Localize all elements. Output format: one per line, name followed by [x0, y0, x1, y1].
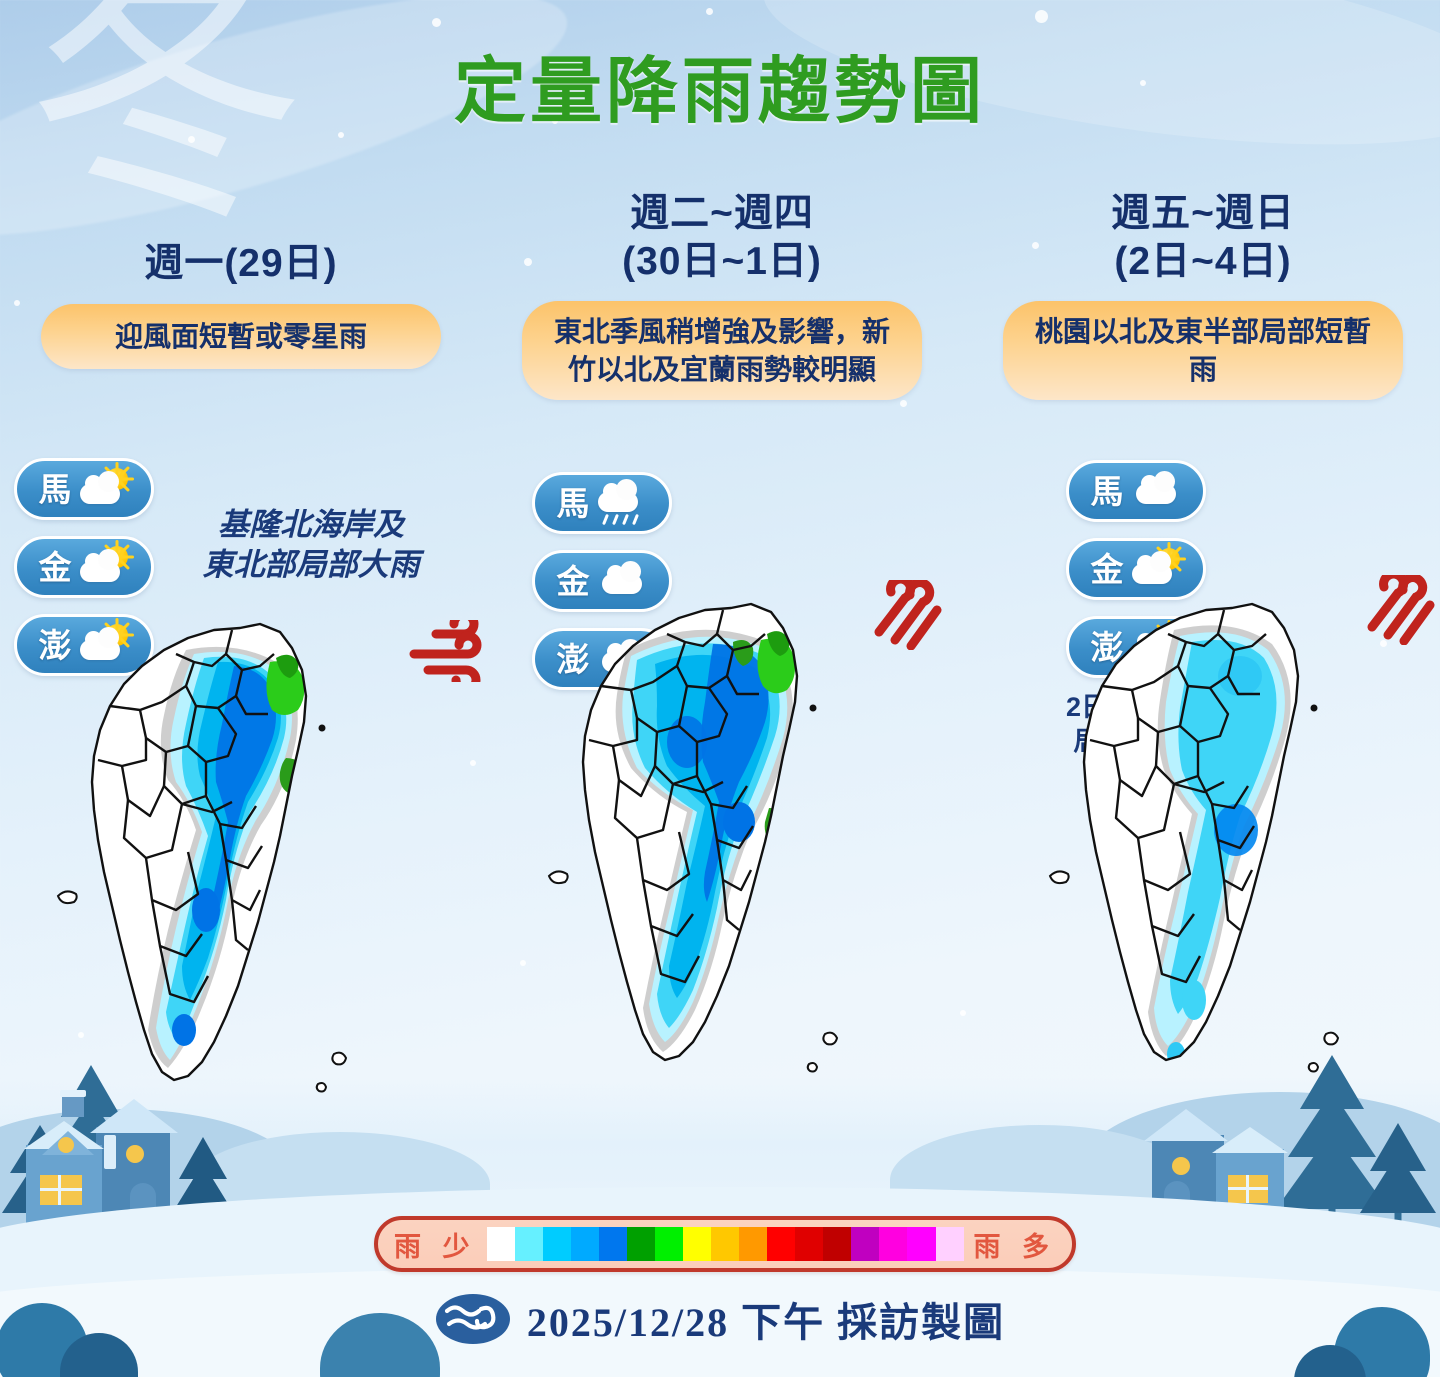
forecast-columns: 週一(29日) 迎風面短暫或零星雨 馬 金 澎	[0, 190, 1440, 1190]
legend-swatch-12	[823, 1227, 851, 1261]
island-label: 金	[39, 551, 72, 584]
legend-swatch-6	[655, 1227, 683, 1261]
snowflake	[188, 136, 195, 143]
legend-swatch-10	[767, 1227, 795, 1261]
forecast-column-tue-thu: 週二~週四 (30日~1日) 東北季風稍增強及影響，新竹以北及宜蘭雨勢較明顯 馬…	[487, 190, 957, 400]
legend-high-label: 雨 多	[973, 1225, 1056, 1264]
snowflake	[706, 8, 713, 15]
snowflake	[432, 18, 441, 27]
legend-swatch-15	[907, 1227, 935, 1261]
column-title-line: 週五~週日	[968, 190, 1438, 238]
island-label: 馬	[557, 487, 590, 520]
column-title-line: 週二~週四	[487, 190, 957, 238]
legend-color-ramp	[487, 1227, 964, 1261]
rain-icon	[596, 482, 648, 524]
partly-sunny-icon	[78, 546, 130, 588]
map-annotation: 基隆北海岸及 東北部局部大雨	[161, 505, 461, 586]
page-title: 定量降雨趨勢圖	[0, 32, 1440, 137]
cwa-wave-logo-icon	[435, 1291, 511, 1347]
legend-swatch-4	[599, 1227, 627, 1261]
column-title: 週二~週四 (30日~1日)	[487, 190, 957, 285]
legend-swatch-2	[543, 1227, 571, 1261]
bush	[1294, 1345, 1366, 1377]
footer: 2025/12/28 下午 採訪製圖	[0, 1290, 1440, 1348]
island-label: 馬	[1091, 475, 1124, 508]
column-title-line: (30日~1日)	[487, 238, 957, 286]
map-annotation-line: 東北部局部大雨	[161, 545, 461, 585]
legend-swatch-8	[711, 1227, 739, 1261]
column-title: 週五~週日 (2日~4日)	[968, 190, 1438, 285]
column-title-line: 週一(29日)	[6, 240, 476, 288]
forecast-column-fri-sun: 週五~週日 (2日~4日) 桃園以北及東半部局部短暫雨 馬 金 澎	[968, 190, 1438, 400]
island-badge-kinmen[interactable]: 金	[14, 536, 154, 598]
rainfall-map-tue-thu	[527, 590, 937, 1195]
snowflake	[1035, 10, 1048, 23]
forecast-summary-pill: 東北季風稍增強及影響，新竹以北及宜蘭雨勢較明顯	[522, 301, 922, 400]
partly-sunny-icon	[78, 468, 130, 510]
rainfall-color-legend: 雨 少 雨 多	[374, 1216, 1076, 1272]
column-title: 週一(29日)	[6, 190, 476, 288]
legend-swatch-3	[571, 1227, 599, 1261]
legend-swatch-9	[739, 1227, 767, 1261]
island-label: 馬	[39, 473, 72, 506]
legend-swatch-13	[851, 1227, 879, 1261]
island-badge-matsu[interactable]: 馬	[532, 472, 672, 534]
map-annotation-line: 基隆北海岸及	[161, 505, 461, 545]
legend-swatch-1	[515, 1227, 543, 1261]
cloudy-icon	[1130, 470, 1182, 512]
rainfall-map-monday	[36, 610, 446, 1185]
rainfall-map-fri-sun	[1028, 590, 1438, 1195]
legend-swatch-5	[627, 1227, 655, 1261]
island-label: 金	[1091, 553, 1124, 586]
legend-swatch-0	[487, 1227, 515, 1261]
column-title-line: (2日~4日)	[968, 238, 1438, 286]
island-badge-matsu[interactable]: 馬	[14, 458, 154, 520]
footer-timestamp: 2025/12/28 下午 採訪製圖	[527, 1290, 1005, 1348]
forecast-column-monday: 週一(29日) 迎風面短暫或零星雨 馬 金 澎	[6, 190, 476, 369]
forecast-summary-pill: 迎風面短暫或零星雨	[41, 304, 441, 370]
legend-swatch-11	[795, 1227, 823, 1261]
partly-sunny-icon	[1130, 548, 1182, 590]
island-badge-matsu[interactable]: 馬	[1066, 460, 1206, 522]
legend-swatch-16	[936, 1227, 964, 1261]
legend-low-label: 雨 少	[394, 1225, 477, 1264]
legend-swatch-14	[879, 1227, 907, 1261]
legend-swatch-7	[683, 1227, 711, 1261]
forecast-summary-pill: 桃園以北及東半部局部短暫雨	[1003, 301, 1403, 400]
